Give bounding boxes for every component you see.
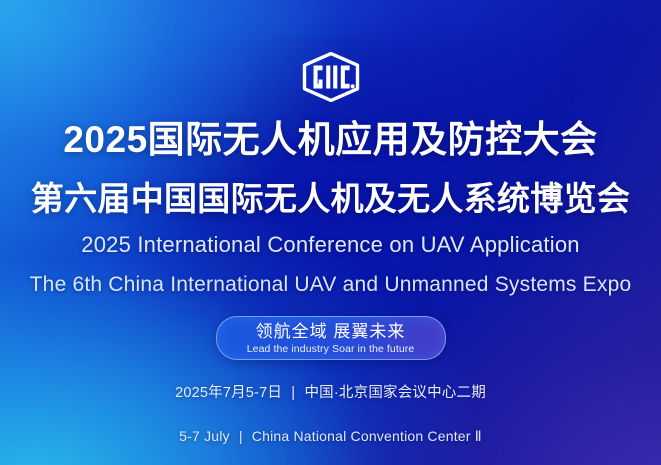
event-date-chinese: 2025年7月5-7日 [175, 385, 282, 401]
title-chinese-line-1: 2025国际无人机应用及防控大会 [63, 118, 597, 162]
title-english-line-2: The 6th China International UAV and Unma… [30, 270, 632, 299]
slogan-english: Lead the industry Soar in the future [247, 343, 415, 355]
guc-hexagon-logo-icon [299, 52, 363, 102]
event-venue-chinese: 中国·北京国家会议中心二期 [304, 385, 485, 401]
details-separator-cn: | [286, 385, 300, 401]
event-details-english: 5-7 July | China National Convention Cen… [179, 426, 482, 447]
slogan-badge: 领航全域 展翼未来 Lead the industry Soar in the … [216, 316, 446, 360]
event-venue-english: China National Convention Center Ⅱ [252, 428, 482, 444]
title-chinese-line-2: 第六届中国国际无人机及无人系统博览会 [31, 178, 630, 219]
details-separator-en: | [234, 428, 248, 444]
conference-poster: 2025国际无人机应用及防控大会 第六届中国国际无人机及无人系统博览会 2025… [0, 0, 661, 465]
poster-content: 2025国际无人机应用及防控大会 第六届中国国际无人机及无人系统博览会 2025… [0, 0, 661, 465]
title-english-line-1: 2025 International Conference on UAV App… [81, 230, 579, 259]
slogan-chinese: 领航全域 展翼未来 [256, 322, 406, 341]
event-date-english: 5-7 July [179, 428, 230, 444]
event-details-chinese: 2025年7月5-7日 | 中国·北京国家会议中心二期 [175, 382, 486, 404]
